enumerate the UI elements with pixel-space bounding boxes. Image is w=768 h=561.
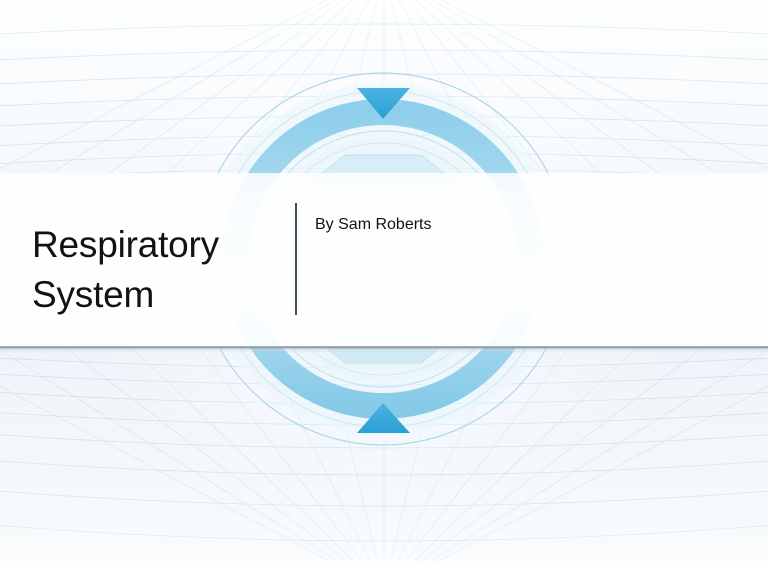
subtitle-divider bbox=[295, 203, 297, 315]
band-divider-shadow bbox=[0, 349, 768, 353]
subtitle-author: By Sam Roberts bbox=[315, 214, 431, 236]
page-title: Respiratory System bbox=[32, 220, 272, 320]
title-slide: Respiratory System By Sam Roberts bbox=[0, 0, 768, 561]
